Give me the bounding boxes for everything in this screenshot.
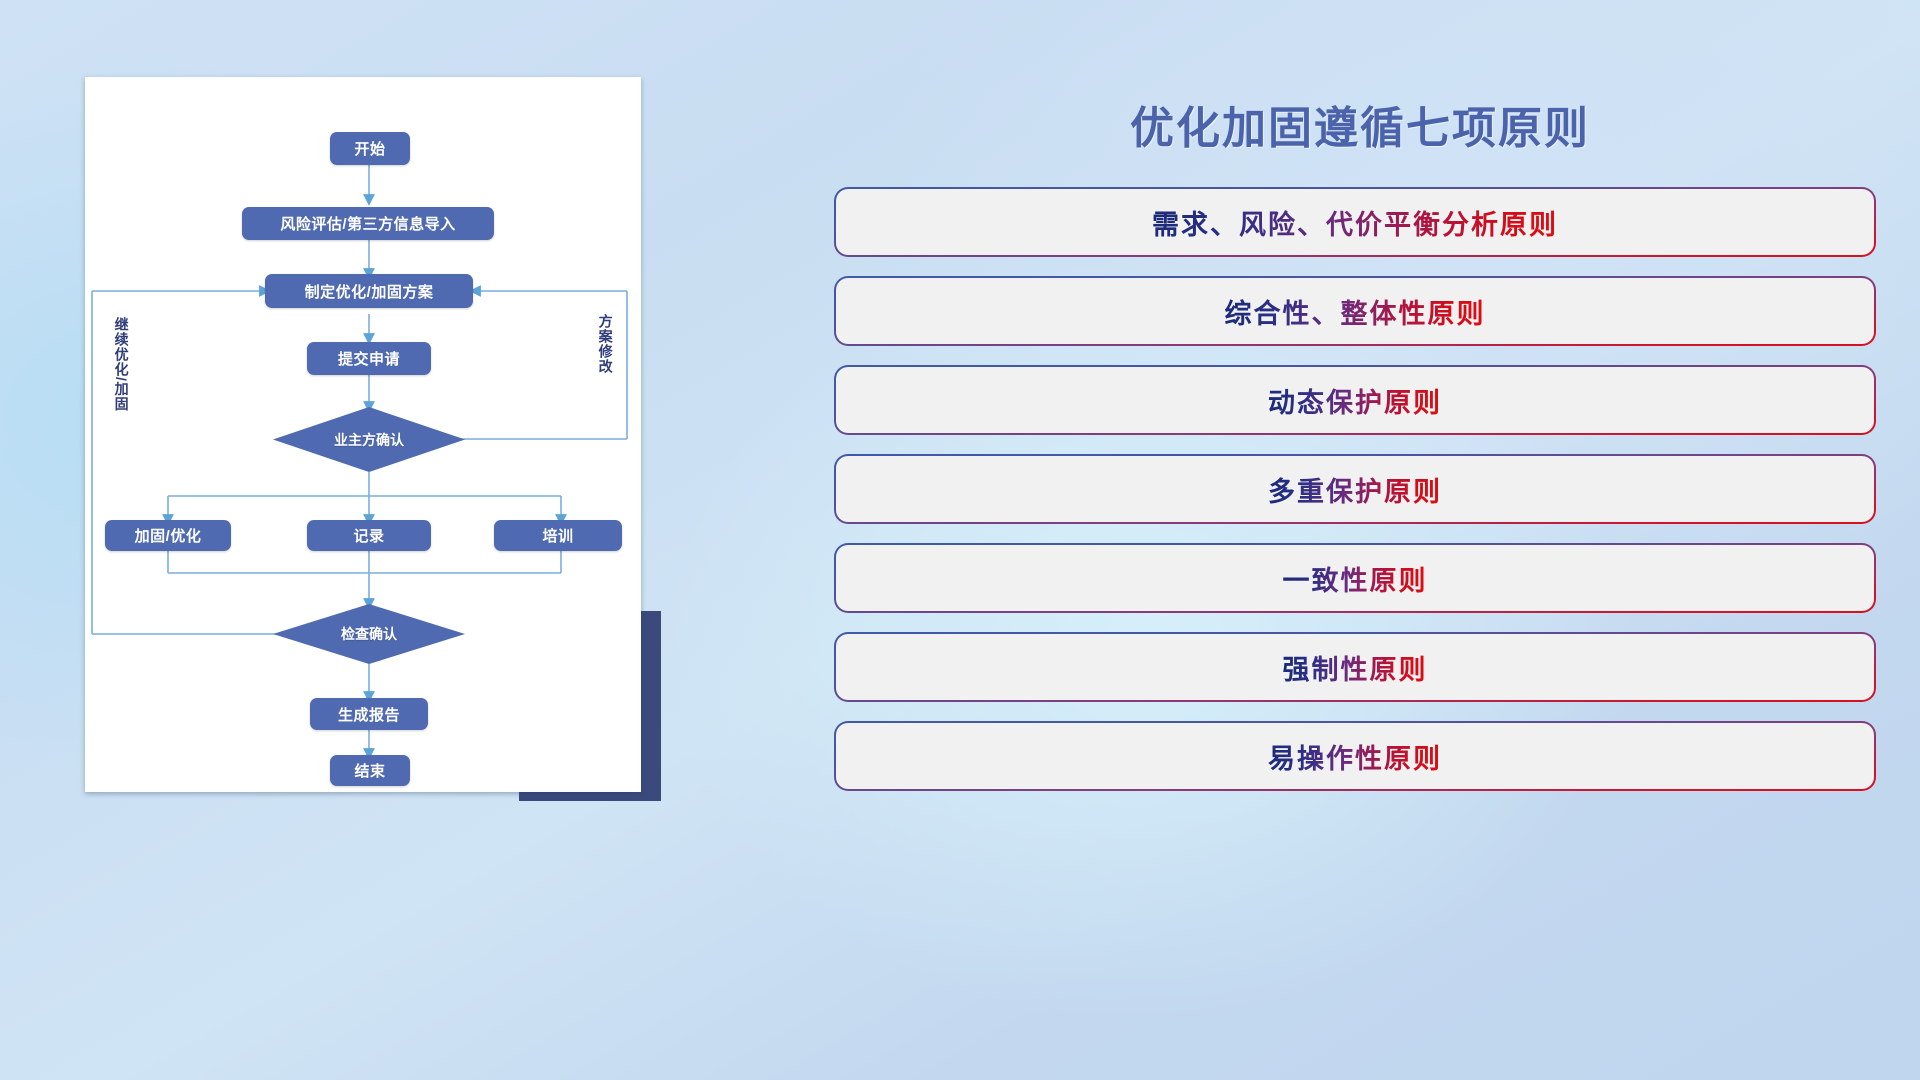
flow-node-record[interactable]: 记录 (307, 520, 431, 551)
flow-node-submit-label: 提交申请 (338, 348, 400, 369)
flow-node-reinforce[interactable]: 加固/优化 (105, 520, 231, 551)
flow-node-report[interactable]: 生成报告 (310, 698, 428, 730)
principle-item-6[interactable]: 强制性原则 (836, 634, 1874, 700)
principle-label: 动态保护原则 (1268, 381, 1442, 420)
flow-node-training[interactable]: 培训 (494, 520, 622, 551)
principle-label: 综合性、整体性原则 (1225, 292, 1486, 331)
flow-node-risk-assessment[interactable]: 风险评估/第三方信息导入 (242, 207, 494, 240)
principle-item-2[interactable]: 综合性、整体性原则 (836, 278, 1874, 344)
flow-node-reinforce-label: 加固/优化 (135, 525, 202, 546)
flow-node-start[interactable]: 开始 (330, 132, 410, 165)
principle-label: 一致性原则 (1283, 559, 1428, 598)
flow-node-risk-assessment-label: 风险评估/第三方信息导入 (280, 213, 455, 234)
flowchart-card: 开始 风险评估/第三方信息导入 制定优化/加固方案 提交申请 业主方确认 加固/… (85, 77, 641, 792)
flow-node-end[interactable]: 结束 (330, 755, 410, 786)
flow-node-plan-label: 制定优化/加固方案 (305, 281, 434, 302)
principle-item-1[interactable]: 需求、风险、代价平衡分析原则 (836, 189, 1874, 255)
flow-node-check-confirm[interactable]: 检查确认 (273, 604, 465, 664)
flow-node-training-label: 培训 (542, 525, 573, 546)
principles-panel: 优化加固遵循七项原则 需求、风险、代价平衡分析原则 综合性、整体性原则 动态保护… (800, 0, 1920, 1080)
flow-node-owner-confirm[interactable]: 业主方确认 (273, 407, 465, 472)
principle-label: 强制性原则 (1283, 648, 1428, 687)
flow-edge-label-left: 继续优化/加固 (113, 317, 129, 412)
flow-edge-label-right: 方案修改 (597, 314, 613, 374)
principle-item-4[interactable]: 多重保护原则 (836, 456, 1874, 522)
flow-node-record-label: 记录 (353, 525, 384, 546)
principle-item-5[interactable]: 一致性原则 (836, 545, 1874, 611)
page-title: 优化加固遵循七项原则 (800, 92, 1920, 156)
flow-node-end-label: 结束 (354, 760, 385, 781)
flow-node-plan[interactable]: 制定优化/加固方案 (265, 274, 473, 308)
principle-label: 易操作性原则 (1268, 737, 1442, 776)
principles-list: 需求、风险、代价平衡分析原则 综合性、整体性原则 动态保护原则 多重保护原则 一… (836, 189, 1874, 812)
principle-label: 需求、风险、代价平衡分析原则 (1152, 203, 1558, 242)
flow-node-report-label: 生成报告 (338, 704, 400, 725)
principle-label: 多重保护原则 (1268, 470, 1442, 509)
principle-item-3[interactable]: 动态保护原则 (836, 367, 1874, 433)
flow-node-start-label: 开始 (354, 138, 385, 159)
principle-item-7[interactable]: 易操作性原则 (836, 723, 1874, 789)
flow-node-submit[interactable]: 提交申请 (307, 342, 431, 375)
